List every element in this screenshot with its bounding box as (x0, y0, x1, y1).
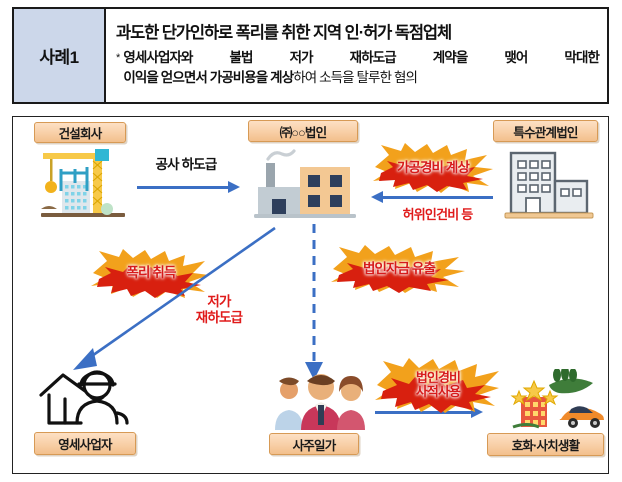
node-label-small-business[interactable]: 영세사업자 (34, 432, 136, 455)
node-label-construction-company[interactable]: 건설회사 (34, 122, 126, 143)
luxury-lifestyle-icon (495, 369, 605, 431)
low-price-resub-line1: 저가 (207, 294, 230, 309)
crane-building-icon (35, 147, 131, 219)
arrow-subcontract-head (228, 181, 240, 193)
node-label-related-corporation[interactable]: 특수관계법인 (493, 120, 598, 142)
burst-corporate-fund-leak: 법인자금 유출 (331, 245, 467, 293)
node-label-owner-family[interactable]: 사주일가 (269, 433, 359, 455)
note-asterisk: * (116, 48, 123, 89)
arrow-fake-expense-line (383, 196, 493, 199)
office-building-icon (499, 147, 599, 219)
burst-private-use: 법인경비사적사용 (375, 357, 501, 413)
note-line-2-bold: 이익을 얻으면서 가공비용을 계상 (123, 70, 293, 85)
small-business-worker-icon (35, 369, 139, 429)
owner-family-icon (271, 372, 371, 430)
screenshot-root: 사례1 과도한 단가인하로 폭리를 취한 지역 인·허가 독점업체 * 영세사업… (0, 0, 622, 482)
case-title: 과도한 단가인하로 폭리를 취한 지역 인·허가 독점업체 (116, 22, 599, 46)
node-label-corporation[interactable]: ㈜○○법인 (248, 120, 358, 142)
node-label-luxury-life[interactable]: 호화·사치생활 (487, 433, 604, 456)
arrow-subcontract-line (137, 186, 230, 189)
flow-label-false-labor-cost: 허위인건비 등 (375, 207, 500, 222)
arrow-fake-expense-head (371, 191, 383, 203)
factory-office-icon (250, 145, 360, 220)
low-price-resub-line2: 재하도급 (196, 310, 242, 325)
case-number-label: 사례1 (14, 9, 106, 102)
flow-diagram-panel: 건설회사 (12, 116, 609, 474)
note-line-2-rest: 하여 소득을 탈루한 혐의 (293, 70, 417, 85)
case-header-table: 사례1 과도한 단가인하로 폭리를 취한 지역 인·허가 독점업체 * 영세사업… (12, 7, 609, 104)
note-text: 영세사업자와 불법 저가 재하도급 계약을 맺어 막대한 이익을 얻으면서 가공… (123, 48, 599, 89)
case-note: * 영세사업자와 불법 저가 재하도급 계약을 맺어 막대한 이익을 얻으면서 … (116, 48, 599, 89)
case-body: 과도한 단가인하로 폭리를 취한 지역 인·허가 독점업체 * 영세사업자와 불… (106, 9, 607, 102)
flow-label-subcontract: 공사 하도급 (131, 157, 241, 173)
burst-fake-expense: 가공경비 계상 (371, 143, 495, 193)
note-line-1: 영세사업자와 불법 저가 재하도급 계약을 맺어 막대한 (123, 48, 599, 68)
flow-label-low-price-resub: 저가재하도급 (173, 294, 265, 326)
arrow-corporate-fund-leak (301, 224, 327, 386)
note-line-2: 이익을 얻으면서 가공비용을 계상하여 소득을 탈루한 혐의 (123, 68, 599, 88)
